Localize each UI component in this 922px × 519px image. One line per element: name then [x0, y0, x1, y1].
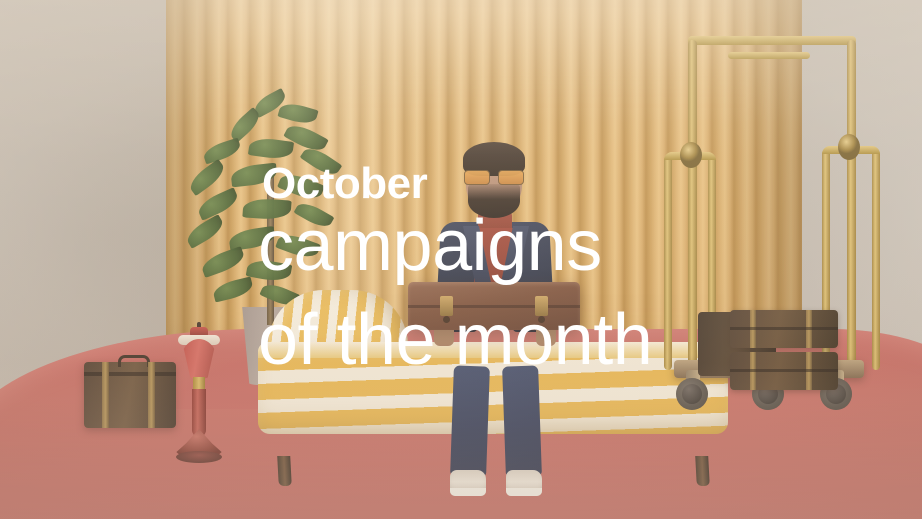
cart-knob-right — [838, 134, 860, 160]
vintage-suitcase-floor — [84, 362, 176, 428]
orange-tinted-sunglasses — [464, 170, 524, 183]
mans-legs — [452, 366, 540, 484]
stacked-vintage-suitcases — [730, 310, 838, 392]
red-pedestal-lamp — [168, 325, 230, 465]
held-suitcase-seam — [408, 305, 580, 308]
video-frame: October campaigns of the month — [0, 0, 922, 519]
suitcase-lid-seam — [84, 372, 176, 376]
lamp-shade — [180, 339, 218, 379]
cart-knob-left — [680, 142, 702, 168]
sneaker-left — [450, 470, 486, 496]
cart-wheel — [676, 378, 708, 410]
suitcase-handle — [118, 355, 150, 367]
held-suitcase — [408, 282, 580, 330]
lamp-foot — [176, 451, 222, 463]
mans-beard — [468, 184, 520, 218]
sneaker-right — [506, 470, 542, 496]
